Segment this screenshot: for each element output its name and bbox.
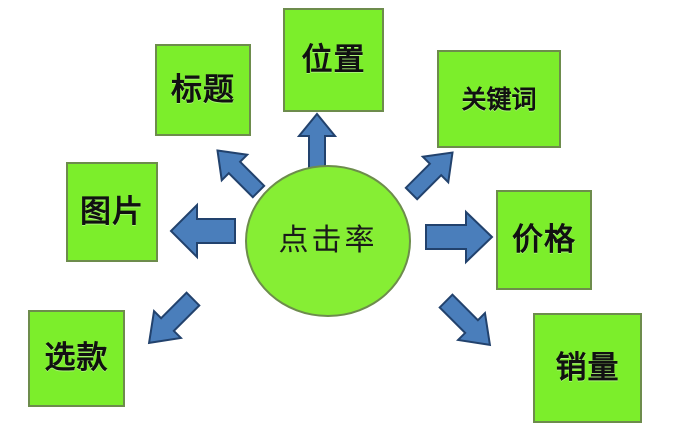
node-label-price: 价格 xyxy=(512,225,576,256)
node-box-position[interactable]: 位置 xyxy=(283,8,384,112)
center-node-ctr[interactable]: 点击率 xyxy=(245,165,411,317)
node-label-keyword: 关键词 xyxy=(461,87,536,112)
arrow-down-left-icon xyxy=(133,283,209,359)
node-box-style[interactable]: 选款 xyxy=(28,310,125,407)
node-label-image: 图片 xyxy=(80,197,144,228)
arrow-left-icon xyxy=(169,203,237,259)
diagram-canvas: 位置 标题 关键词 图片 价格 选款 销量 点击率 xyxy=(0,0,675,435)
node-label-position: 位置 xyxy=(302,45,366,76)
node-label-sales: 销量 xyxy=(556,353,620,384)
arrow-right-icon xyxy=(424,210,494,264)
node-box-image[interactable]: 图片 xyxy=(66,162,158,262)
center-node-label: 点击率 xyxy=(279,226,378,256)
node-box-title[interactable]: 标题 xyxy=(155,44,251,136)
node-box-sales[interactable]: 销量 xyxy=(533,313,642,423)
node-box-price[interactable]: 价格 xyxy=(496,190,592,290)
node-label-style: 选款 xyxy=(45,343,109,374)
arrow-down-right-icon xyxy=(430,285,506,361)
node-label-title: 标题 xyxy=(171,75,235,106)
node-box-keyword[interactable]: 关键词 xyxy=(437,50,561,148)
arrow-up-icon xyxy=(297,112,337,170)
